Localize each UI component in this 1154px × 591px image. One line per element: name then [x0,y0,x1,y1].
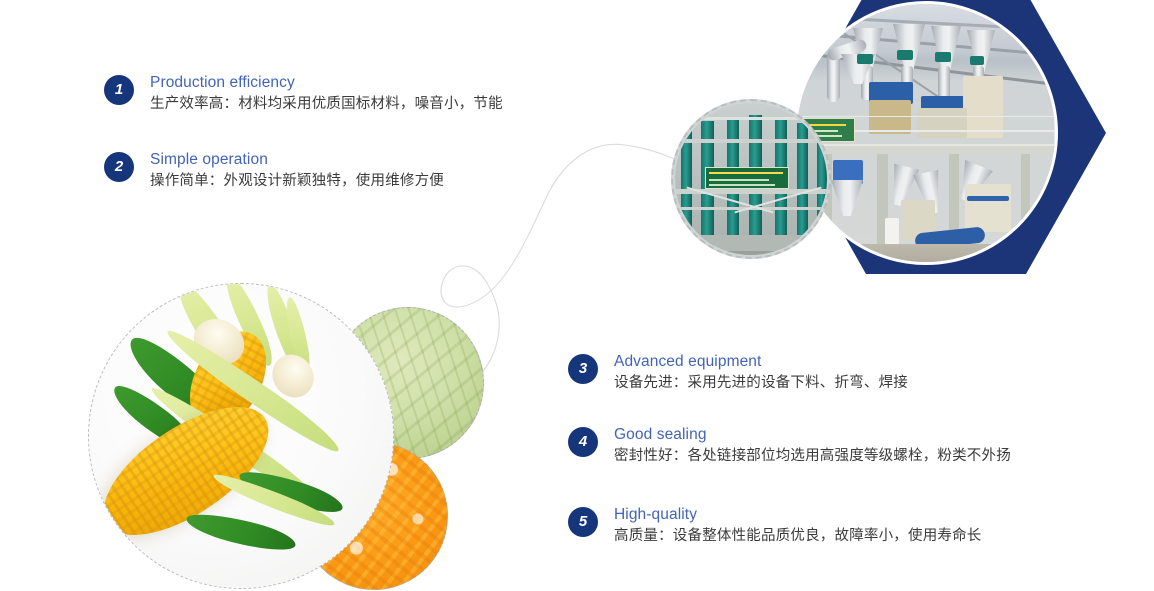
feature-title-4: Good sealing [614,425,1011,445]
corn-photo-group [88,283,460,591]
feature-text-2: Simple operation 操作简单：外观设计新颖独特，使用维修方便 [150,150,444,192]
feature-item-4: 4 Good sealing 密封性好：各处链接部位均选用高强度等级螺栓，粉类不… [568,425,1011,467]
feature-desc-4: 密封性好：各处链接部位均选用高强度等级螺栓，粉类不外扬 [614,446,1011,467]
teal-milling-machinery-photo [675,103,827,255]
machinery-hexagon-group [786,0,1106,274]
feature-title-2: Simple operation [150,150,444,170]
feature-item-5: 5 High-quality 高质量：设备整体性能品质优良，故障率小，使用寿命长 [568,505,982,547]
feature-item-2: 2 Simple operation 操作简单：外观设计新颖独特，使用维修方便 [104,150,444,192]
feature-desc-5: 高质量：设备整体性能品质优良，故障率小，使用寿命长 [614,526,982,547]
corn-cob-photo [88,283,394,589]
feature-badge-2: 2 [104,152,134,182]
feature-title-5: High-quality [614,505,982,525]
feature-desc-1: 生产效率高：材料均采用优质国标材料，噪音小，节能 [150,94,503,115]
feature-item-1: 1 Production efficiency 生产效率高：材料均采用优质国标材… [104,73,503,115]
feature-badge-1: 1 [104,75,134,105]
feature-title-1: Production efficiency [150,73,503,93]
feature-title-3: Advanced equipment [614,352,908,372]
feature-text-3: Advanced equipment 设备先进：采用先进的设备下料、折弯、焊接 [614,352,908,394]
infographic-canvas: 1 Production efficiency 生产效率高：材料均采用优质国标材… [0,0,1154,591]
flour-milling-plant-photo [797,4,1055,262]
feature-badge-5: 5 [568,507,598,537]
feature-badge-4: 4 [568,427,598,457]
machinery-photo-circle [794,1,1058,265]
feature-desc-3: 设备先进：采用先进的设备下料、折弯、焊接 [614,373,908,394]
teal-machinery-photo-circle [671,99,831,259]
feature-desc-2: 操作简单：外观设计新颖独特，使用维修方便 [150,171,444,192]
feature-text-1: Production efficiency 生产效率高：材料均采用优质国标材料，… [150,73,503,115]
feature-text-4: Good sealing 密封性好：各处链接部位均选用高强度等级螺栓，粉类不外扬 [614,425,1011,467]
feature-item-3: 3 Advanced equipment 设备先进：采用先进的设备下料、折弯、焊… [568,352,908,394]
feature-badge-3: 3 [568,354,598,384]
corn-cob-photo-inner [89,284,393,588]
feature-text-5: High-quality 高质量：设备整体性能品质优良，故障率小，使用寿命长 [614,505,982,547]
